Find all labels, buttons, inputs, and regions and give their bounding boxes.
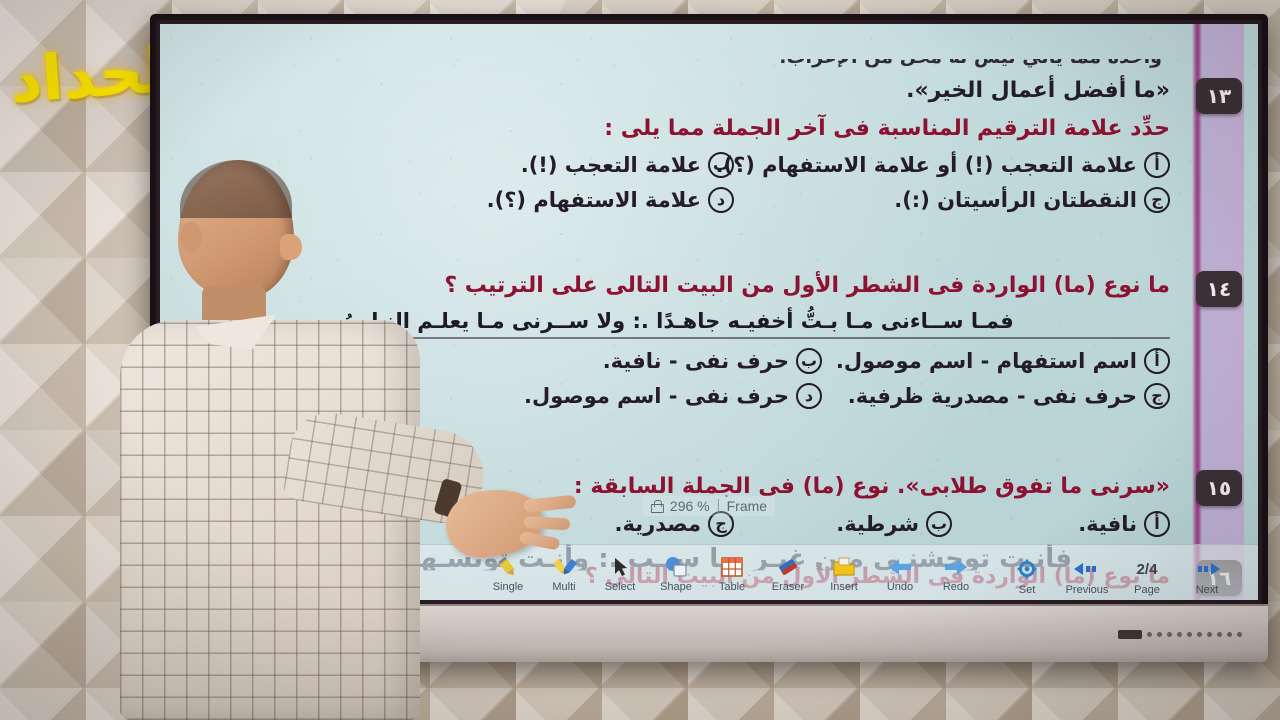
option-text: شرطية. <box>836 512 919 536</box>
option-text: نافية. <box>1078 512 1137 536</box>
tool-undo[interactable]: Undo <box>874 553 926 593</box>
next-button[interactable]: Next <box>1178 556 1236 596</box>
option-bullet-icon: ج <box>1144 187 1170 213</box>
option-text: اسم استفهام - اسم موصول. <box>836 349 1137 373</box>
previous-label: Previous <box>1066 584 1109 596</box>
question-number-badge: ١٣ <box>1196 78 1242 114</box>
redo-arrow-icon <box>941 553 971 579</box>
tool-insert[interactable]: Insert <box>818 553 870 593</box>
shape-icon <box>662 553 690 579</box>
tool-label: Undo <box>887 581 913 593</box>
option-b-15[interactable]: ب شرطية. <box>752 511 952 537</box>
option-bullet-icon: ب <box>926 511 952 537</box>
zoom-frame-indicator: 296 % Frame <box>643 496 775 516</box>
page-indicator: 2/4 Page <box>1118 556 1176 596</box>
option-a-13[interactable]: أ علامة التعجب (!) أو علامة الاستفهام (؟… <box>752 152 1170 178</box>
option-text: حرف نفى - اسم موصول. <box>524 384 789 408</box>
tool-label: Shape <box>660 581 692 593</box>
option-bullet-icon: ب <box>796 348 822 374</box>
option-bullet-icon: أ <box>1144 152 1170 178</box>
page-label: Page <box>1134 584 1160 596</box>
tool-label: Redo <box>943 581 969 593</box>
question-quote-13: «ما أفضل أعمال الخير». <box>186 76 1170 106</box>
clipped-top-line: واحدة مما يأتي ليس له محل من الإعراب. <box>340 46 1162 72</box>
option-bullet-icon: أ <box>1144 511 1170 537</box>
previous-button[interactable]: Previous <box>1058 556 1116 596</box>
option-c-14[interactable]: ج حرف نفى - مصدرية ظرفية. <box>840 383 1170 409</box>
page-count-value: 2/4 <box>1137 556 1158 582</box>
option-text: علامة التعجب (!) أو علامة الاستفهام (؟). <box>716 153 1138 177</box>
video-frame: الحداد واحدة مما يأتي ليس له محل من الإع… <box>0 0 1280 720</box>
tool-label: Table <box>719 581 745 593</box>
insert-icon <box>830 553 858 579</box>
zoom-level-value: 296 % <box>670 498 710 514</box>
option-bullet-icon: أ <box>1144 348 1170 374</box>
question-prompt-13: حدِّد علامة الترقيم المناسبة فى آخر الجم… <box>186 114 1170 144</box>
option-d-14[interactable]: د حرف نفى - اسم موصول. <box>524 383 822 409</box>
gear-icon <box>1016 556 1038 582</box>
tool-label: Eraser <box>772 581 804 593</box>
page-navigation-group: Set Previous <box>998 556 1236 596</box>
set-button[interactable]: Set <box>998 556 1056 596</box>
presenter-nose <box>280 234 302 260</box>
option-bullet-icon: د <box>796 383 822 409</box>
frame-mode-value: Frame <box>727 498 767 514</box>
option-bullet-icon: د <box>708 187 734 213</box>
option-b-14[interactable]: ب حرف نفى - نافية. <box>603 348 822 374</box>
lock-icon <box>651 500 662 513</box>
presenter-shirt <box>120 320 420 720</box>
tool-redo[interactable]: Redo <box>930 553 982 593</box>
option-a-15[interactable]: أ نافية. <box>970 511 1170 537</box>
multi-pen-icon <box>550 553 578 579</box>
presenter-finger <box>524 516 571 530</box>
tool-label: Multi <box>552 581 575 593</box>
cursor-select-icon <box>607 553 633 579</box>
question-number-badge: ١٥ <box>1196 470 1242 506</box>
question-number-badge: ١٤ <box>1196 271 1242 307</box>
tool-table[interactable]: Table <box>706 553 758 593</box>
option-text: حرف نفى - نافية. <box>603 349 789 373</box>
option-text: النقطتان الرأسيتان (:). <box>894 188 1137 212</box>
panel-speaker-grill <box>1118 630 1242 639</box>
option-text: حرف نفى - مصدرية ظرفية. <box>848 384 1137 408</box>
undo-arrow-icon <box>885 553 915 579</box>
option-bullet-icon: ب <box>708 152 734 178</box>
tool-label: Select <box>605 581 636 593</box>
option-a-14[interactable]: أ اسم استفهام - اسم موصول. <box>840 348 1170 374</box>
tool-group: Single Multi <box>482 553 982 593</box>
eraser-icon <box>774 553 802 579</box>
previous-arrow-icon <box>1070 556 1104 582</box>
next-label: Next <box>1196 584 1219 596</box>
set-label: Set <box>1019 584 1036 596</box>
presenter-ear <box>180 222 202 252</box>
table-icon <box>718 553 746 579</box>
tool-multi[interactable]: Multi <box>538 553 590 593</box>
tool-eraser[interactable]: Eraser <box>762 553 814 593</box>
option-text: علامة التعجب (!). <box>521 153 701 177</box>
option-c-13[interactable]: ج النقطتان الرأسيتان (:). <box>752 187 1170 213</box>
indicator-divider <box>718 499 719 514</box>
option-b-13[interactable]: ب علامة التعجب (!). <box>521 152 734 178</box>
presenter-hair <box>180 160 292 218</box>
tool-label: Insert <box>830 581 858 593</box>
next-arrow-icon <box>1190 556 1224 582</box>
presenter <box>120 160 540 720</box>
tool-shape[interactable]: Shape <box>650 553 702 593</box>
option-bullet-icon: ج <box>1144 383 1170 409</box>
tool-select[interactable]: Select <box>594 553 646 593</box>
